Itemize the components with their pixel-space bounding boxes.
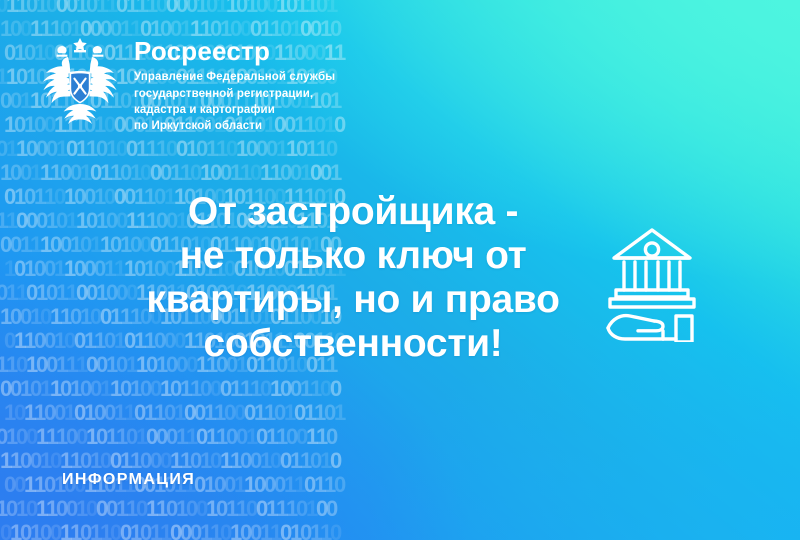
brand-subtitle-line-1: Управление Федеральной службы xyxy=(134,69,335,85)
binary-row: 0100111001011010001101100101100110 xyxy=(0,426,796,448)
brand-subtitle-line-4: по Иркутской области xyxy=(134,118,335,134)
binary-row: 1001110010110100011010011011001001 xyxy=(0,162,800,184)
binary-row: 1010110010001101101001011001110100 xyxy=(0,498,796,520)
headline: От застройщика - не только ключ от кварт… xyxy=(138,190,568,366)
bank-building-on-hand-icon xyxy=(602,224,702,342)
information-banner: 0110100010110111000010110100101101100111… xyxy=(0,0,800,540)
headline-line-4: собственности! xyxy=(138,322,568,366)
brand-subtitle-line-2: государственной регистрации, xyxy=(134,86,335,102)
russian-double-headed-eagle-emblem xyxy=(38,34,122,126)
headline-line-3: квартиры, но и право xyxy=(138,278,568,322)
binary-row: 1011001010011011010011000110101101 xyxy=(4,402,800,424)
logo-text-block: Росреестр Управление Федеральной службы … xyxy=(134,34,335,135)
category-label: ИНФОРМАЦИЯ xyxy=(62,471,195,489)
binary-row: 0101001101100101100011010011010110 xyxy=(0,522,800,540)
rosreestr-logo-block: Росреестр Управление Федеральной службы … xyxy=(38,34,335,135)
headline-line-1: От застройщика - xyxy=(138,190,568,234)
binary-row: 1100101101001100011010110010011010 xyxy=(0,450,800,472)
headline-line-2: не только ключ от xyxy=(138,234,568,278)
binary-row: 0110100010110111000010110100101101 xyxy=(0,0,796,16)
brand-subtitle-line-3: кадастра и картографии xyxy=(134,102,335,118)
binary-row: 0110001011010011100101101000110110 xyxy=(0,138,796,160)
binary-row: 0010110100110100101100011101001100 xyxy=(0,378,800,400)
brand-name: Росреестр xyxy=(134,38,335,65)
